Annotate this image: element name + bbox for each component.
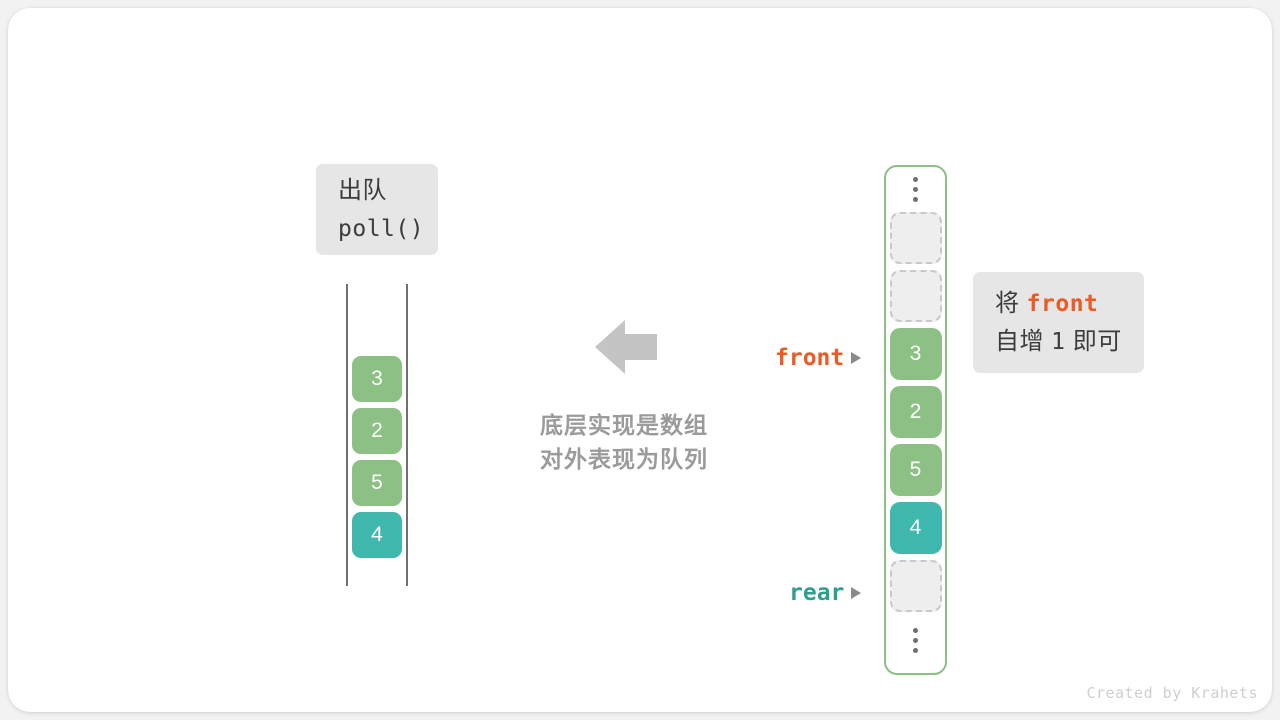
pointer-front: front <box>775 345 861 371</box>
note-front-line1: 将 front <box>995 285 1122 323</box>
note-box-poll: 出队 poll() <box>316 164 438 255</box>
note-poll-line2: poll() <box>338 210 416 248</box>
queue-rail-left <box>346 284 348 586</box>
array-cell-empty <box>890 212 942 264</box>
array-cell: 4 <box>890 502 942 554</box>
credit-text: Created by Krahets <box>1086 684 1258 702</box>
pointer-rear-label: rear <box>789 580 844 606</box>
queue-cell: 4 <box>352 512 402 558</box>
array-cell-empty <box>890 560 942 612</box>
queue-cell: 5 <box>352 460 402 506</box>
queue-abstract-view: 3254 <box>340 284 412 589</box>
caption-line1: 底层实现是数组 <box>504 408 744 442</box>
array-cell: 5 <box>890 444 942 496</box>
vertical-ellipsis-icon <box>913 167 918 212</box>
pointer-rear: rear <box>789 580 861 606</box>
array-cell: 3 <box>890 328 942 380</box>
array-underlying-view: 3254 <box>884 165 947 675</box>
note-front-line2-b: 即可 <box>1073 328 1122 355</box>
queue-cell: 3 <box>352 356 402 402</box>
queue-rail-right <box>406 284 408 586</box>
note-front-keyword: front <box>1027 291 1099 317</box>
pointer-front-label: front <box>775 345 844 371</box>
diagram-canvas: 出队 poll() 3254 底层实现是数组 对外表现为队列 front rea… <box>0 0 1280 720</box>
queue-cell-stack: 3254 <box>352 356 402 564</box>
triangle-right-icon <box>851 587 861 599</box>
array-cell-stack: 3254 <box>890 212 942 618</box>
note-front-line2: 自增 1 即可 <box>995 323 1122 361</box>
triangle-right-icon <box>851 352 861 364</box>
queue-cell: 2 <box>352 408 402 454</box>
note-box-front-increment: 将 front 自增 1 即可 <box>973 272 1144 373</box>
center-caption: 底层实现是数组 对外表现为队列 <box>504 408 744 476</box>
note-front-prefix: 将 <box>995 290 1020 317</box>
vertical-ellipsis-icon <box>913 618 918 663</box>
arrow-left-icon <box>595 320 657 374</box>
note-poll-line1: 出队 <box>338 172 416 210</box>
note-front-line2-num: 1 <box>1051 329 1065 355</box>
array-cell: 2 <box>890 386 942 438</box>
array-cell-empty <box>890 270 942 322</box>
note-front-line2-a: 自增 <box>995 328 1044 355</box>
caption-line2: 对外表现为队列 <box>504 442 744 476</box>
